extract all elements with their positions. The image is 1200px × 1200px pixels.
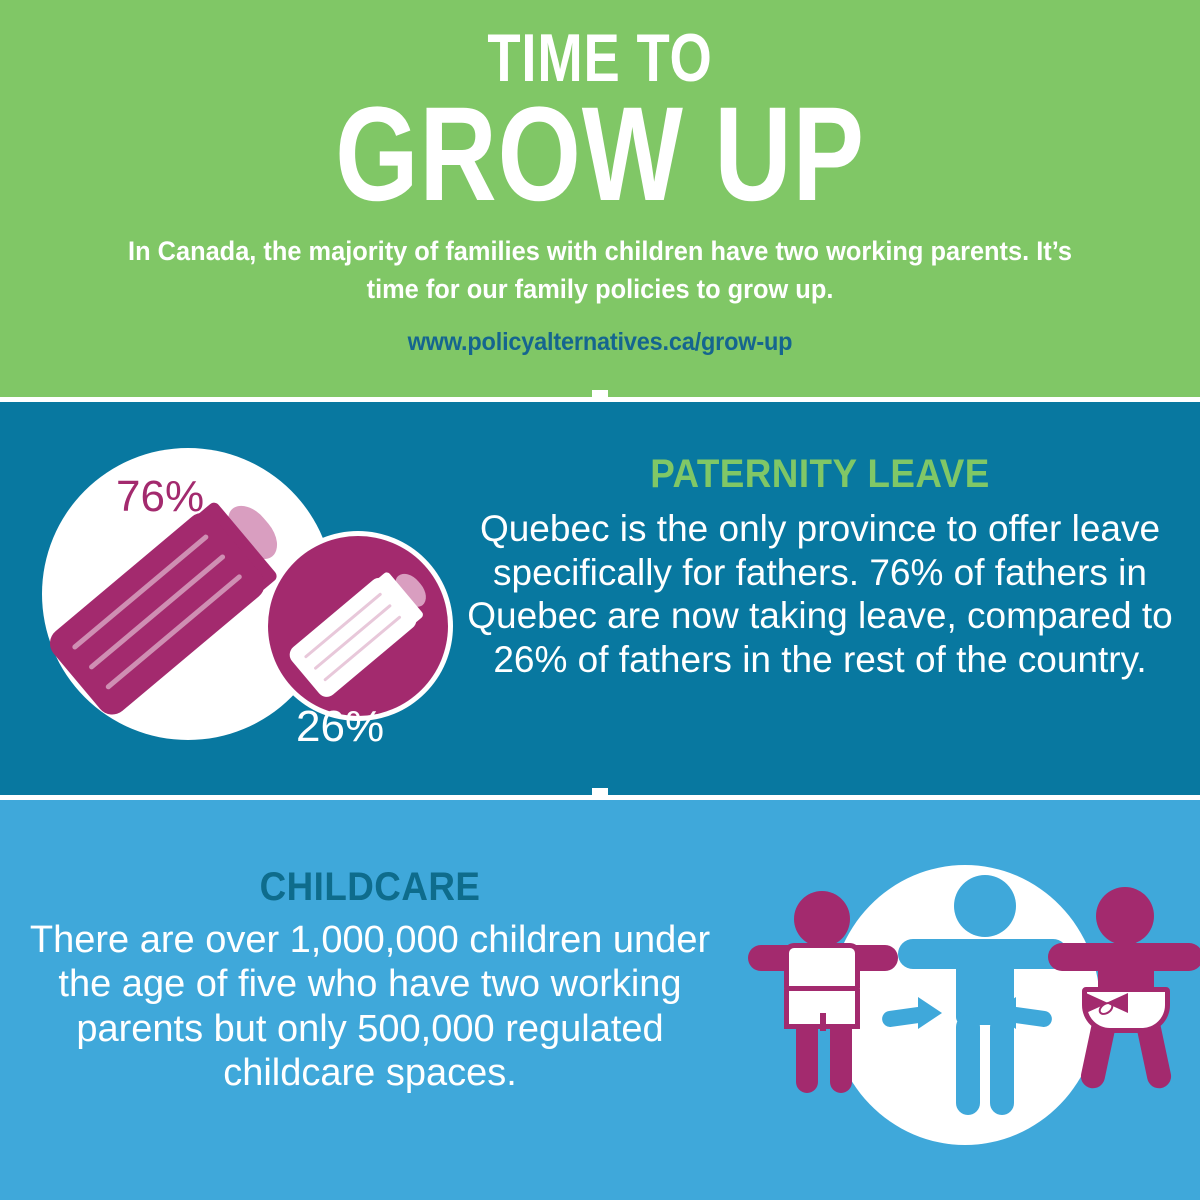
family-figures-graphic <box>730 855 1200 1185</box>
child-figure-icon <box>748 891 898 1101</box>
baby-bottle-chart-graphic: 76% 26% <box>20 440 460 770</box>
child-shirt <box>784 943 860 991</box>
stat-label-rest-of-canada: 26% <box>296 702 384 752</box>
childcare-body-text: There are over 1,000,000 children under … <box>20 918 720 1096</box>
paternity-text-block: PATERNITY LEAVE Quebec is the only provi… <box>452 452 1188 682</box>
website-url-link[interactable]: www.policyalternatives.ca/grow-up <box>36 328 1164 357</box>
child-head <box>794 891 850 947</box>
paternity-body-text: Quebec is the only province to offer lea… <box>452 507 1188 682</box>
baby-figure-icon <box>1048 887 1200 1102</box>
childcare-text-block: CHILDCARE There are over 1,000,000 child… <box>20 865 720 1096</box>
baby-arms <box>1048 943 1200 971</box>
child-shorts-seam <box>820 1013 826 1031</box>
adult-arms <box>898 939 1068 969</box>
adult-leg-left <box>956 1015 980 1115</box>
stat-label-quebec: 76% <box>116 472 204 522</box>
header-subtitle: In Canada, the majority of families with… <box>36 232 1164 309</box>
baby-head <box>1096 887 1154 945</box>
infographic-poster: TIME TO GROW UP In Canada, the majority … <box>0 0 1200 1200</box>
childcare-heading: CHILDCARE <box>48 865 692 910</box>
arrow-left-pointing-icon <box>992 997 1052 1031</box>
page-title-line-2: GROW UP <box>120 88 1080 222</box>
paternity-heading: PATERNITY LEAVE <box>481 452 1158 497</box>
arrow-head <box>992 997 1016 1029</box>
adult-head <box>954 875 1016 937</box>
